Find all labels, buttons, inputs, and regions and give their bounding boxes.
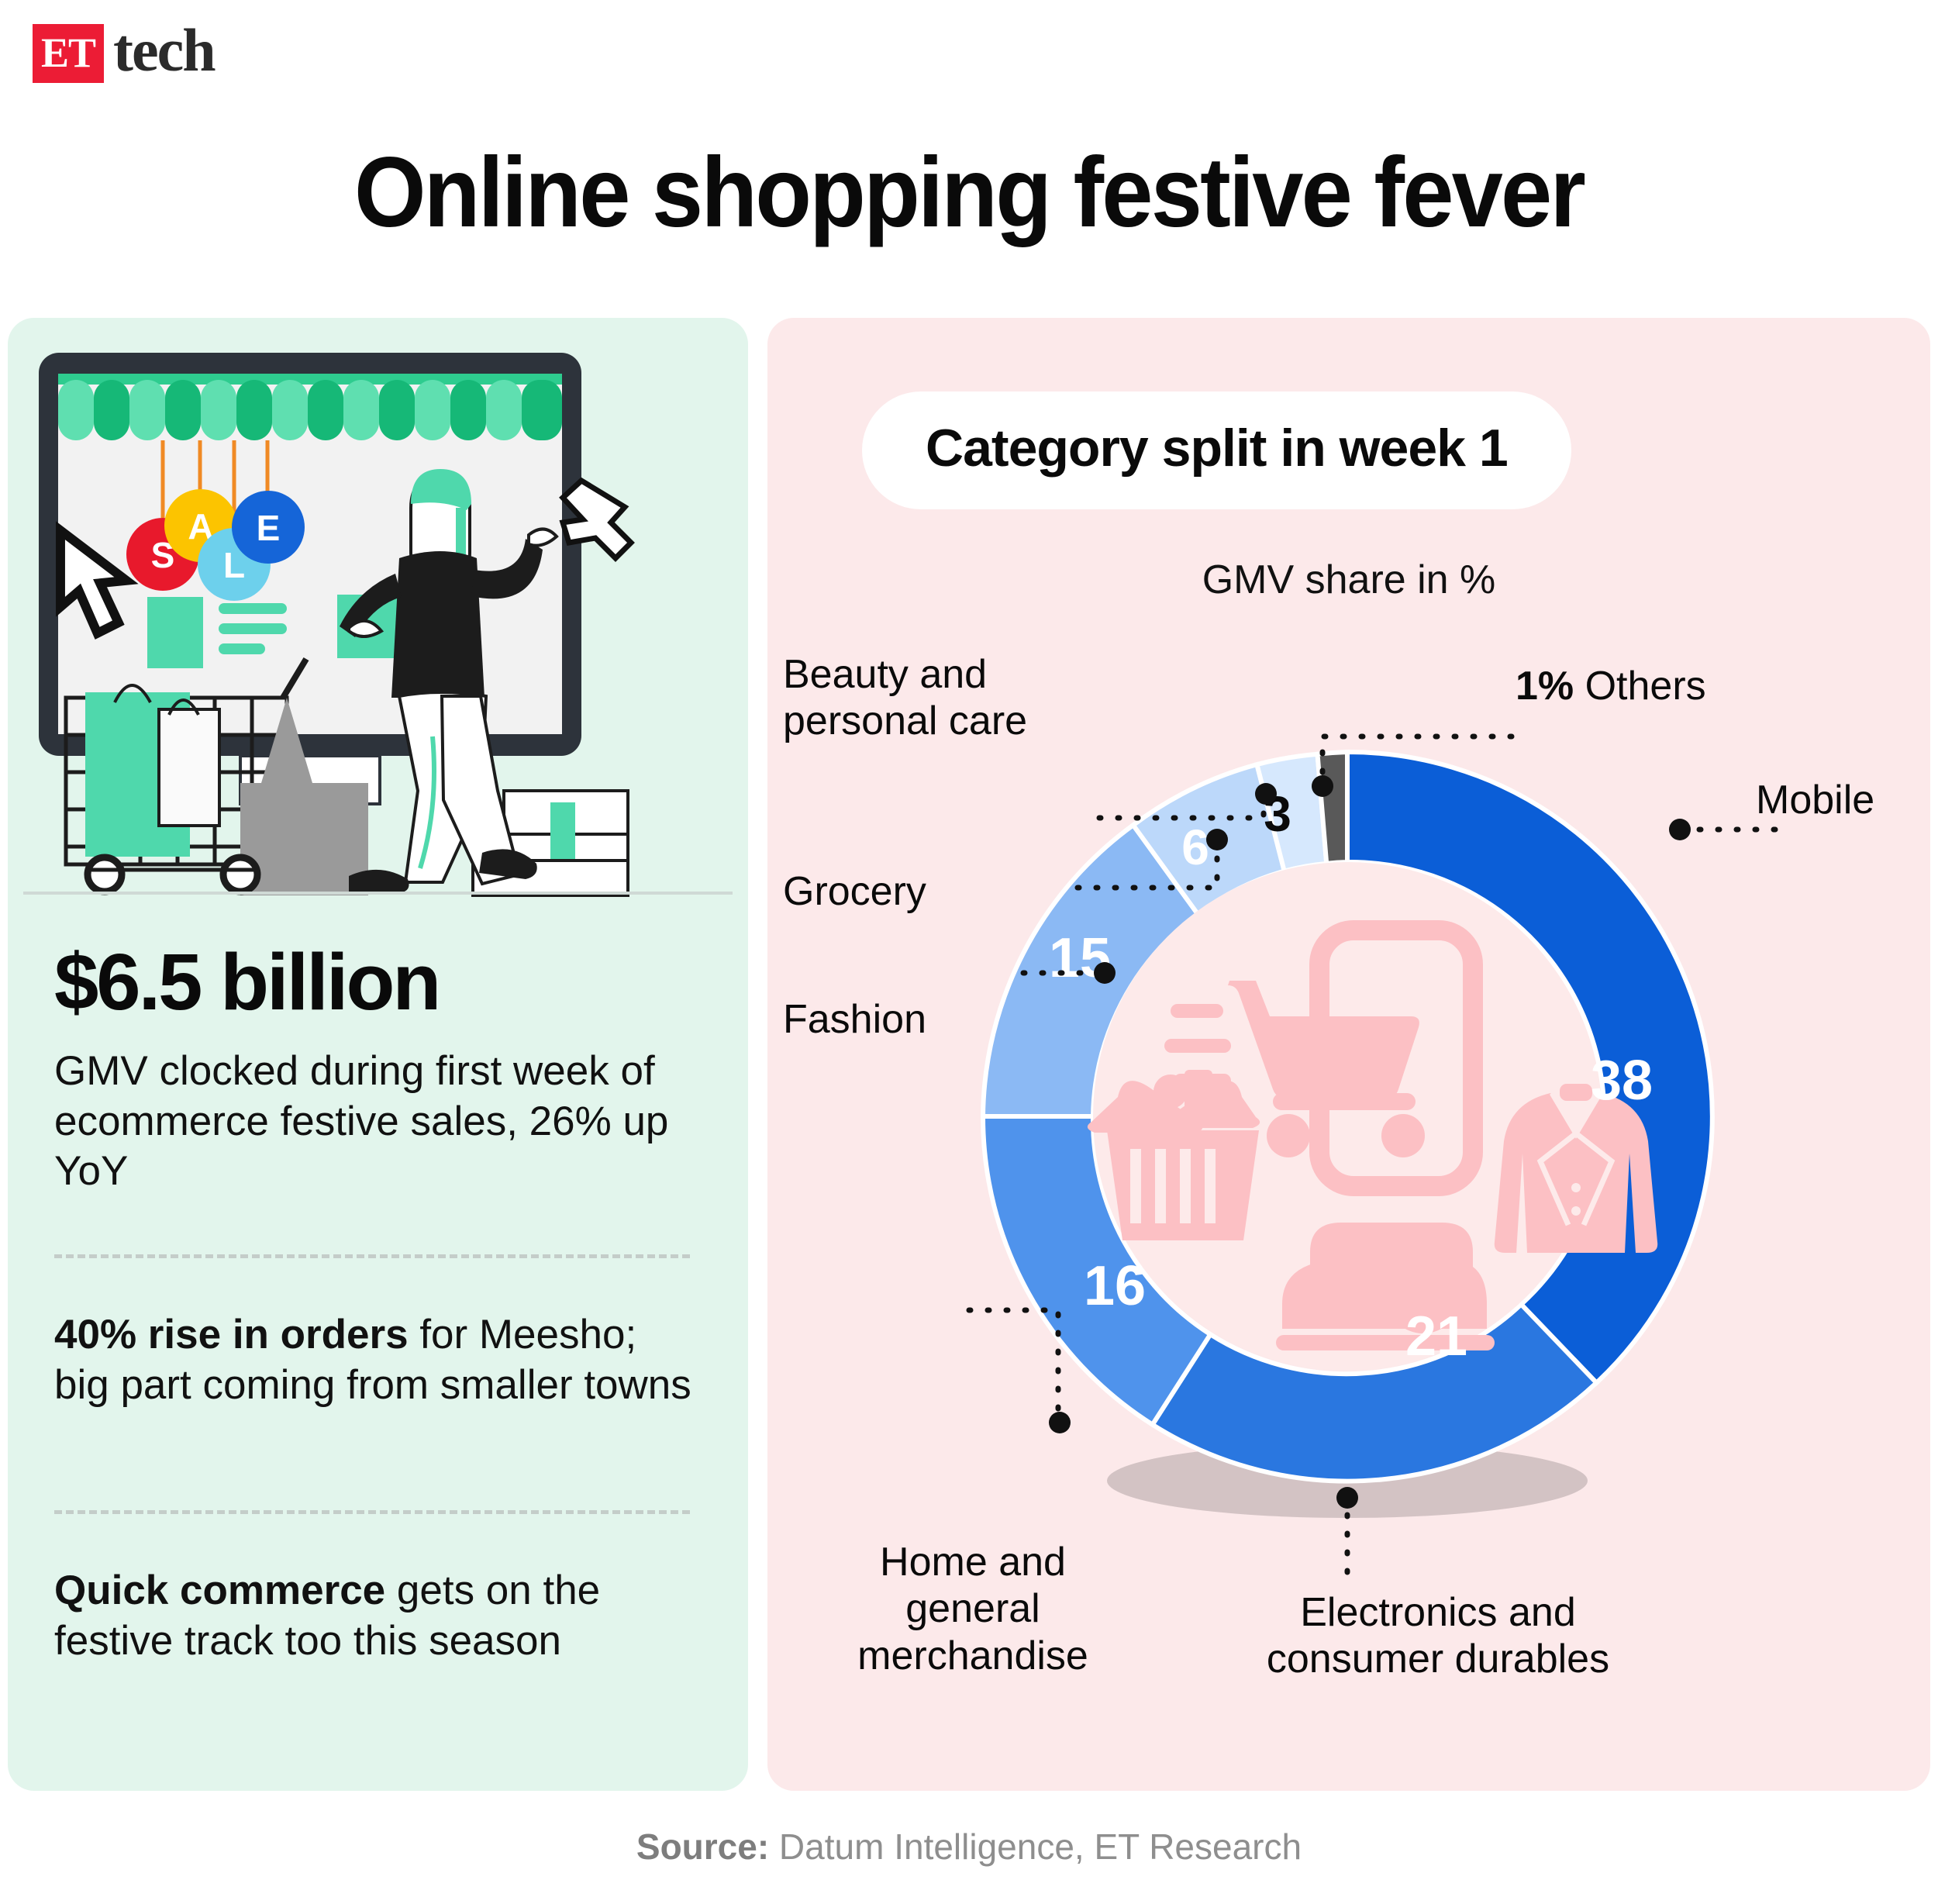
callout-label-others: 1% Others [1516, 663, 1706, 709]
value-home: 16 [1084, 1255, 1146, 1317]
callout-label-mobile: Mobile [1756, 777, 1874, 823]
value-grocery: 6 [1181, 819, 1209, 875]
source-prefix: Source: [636, 1826, 769, 1867]
leader-dot-home [1049, 1412, 1071, 1433]
online-shopping-illustration: S A L E [8, 318, 748, 899]
callout-beauty-line2: personal care [783, 698, 1116, 744]
gmv-headline-number: $6.5 billion [54, 942, 439, 1022]
leader-dot-beauty [1255, 783, 1277, 805]
callout-label-fashion: Fashion [783, 996, 1047, 1043]
divider-1 [54, 1254, 690, 1258]
leader-dot-mobile [1669, 819, 1691, 840]
svg-text:E: E [257, 508, 281, 548]
fact-meesho: 40% rise in orders for Meesho; big part … [54, 1310, 698, 1410]
callout-home-line2: general [822, 1585, 1124, 1632]
callout-beauty-line1: Beauty and [783, 651, 1116, 698]
value-electronics: 21 [1405, 1306, 1467, 1368]
leader-home [969, 1310, 1058, 1419]
gmv-lead-text: GMV clocked during first week of ecommer… [54, 1047, 690, 1197]
callout-others-pct: 1% [1516, 664, 1574, 709]
callout-home-line1: Home and [822, 1539, 1124, 1585]
fact-quick-commerce: Quick commerce gets on the festive track… [54, 1566, 698, 1666]
logo-et-mark: ET [33, 24, 104, 83]
callout-others-word: Others [1574, 664, 1706, 709]
leader-dot-grocery [1206, 829, 1228, 850]
ettech-logo[interactable]: ET tech [33, 23, 215, 84]
logo-tech-word: tech [113, 20, 215, 81]
fact-meesho-bold: 40% rise in orders [54, 1312, 409, 1357]
divider-2 [54, 1510, 690, 1514]
page-title: Online shopping festive fever [68, 143, 1871, 243]
callout-label-home: Home and general merchandise [822, 1539, 1124, 1679]
callout-label-beauty: Beauty and personal care [783, 651, 1116, 745]
source-line: Source: Datum Intelligence, ET Research [0, 1826, 1938, 1868]
callout-elec-line2: consumer durables [1205, 1636, 1671, 1682]
leader-dot-fashion [1094, 962, 1116, 984]
callout-home-line3: merchandise [822, 1633, 1124, 1679]
callout-label-electronics: Electronics and consumer durables [1205, 1589, 1671, 1683]
leader-dot-electronics [1336, 1487, 1358, 1509]
leader-dot-others [1312, 775, 1333, 797]
value-mobile: 38 [1591, 1050, 1653, 1112]
callout-elec-line1: Electronics and [1205, 1589, 1671, 1636]
fact-quick-commerce-bold: Quick commerce [54, 1568, 385, 1613]
callout-label-grocery: Grocery [783, 868, 1047, 915]
source-text: Datum Intelligence, ET Research [769, 1826, 1302, 1867]
infographic-page: ET tech Online shopping festive fever [0, 0, 1938, 1904]
